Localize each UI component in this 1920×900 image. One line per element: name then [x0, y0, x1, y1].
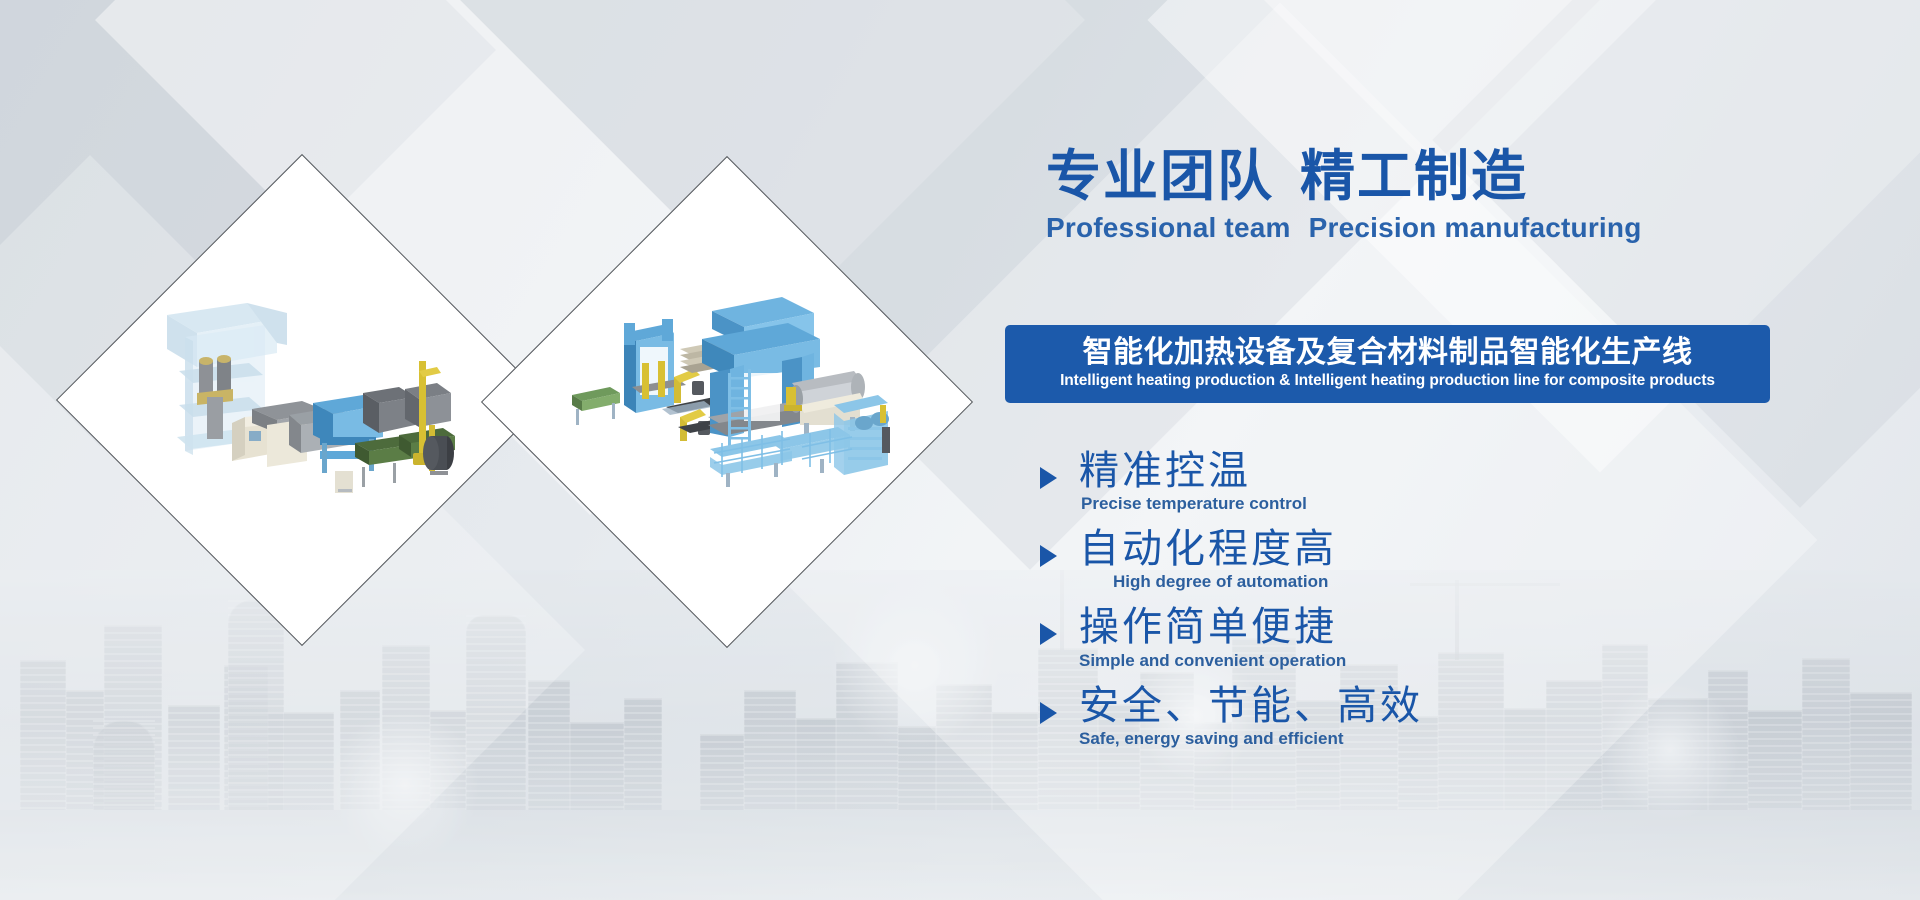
product-title-english: Intelligent heating production & Intelli… — [1060, 372, 1715, 390]
hydraulic-press-line-render — [562, 277, 892, 527]
headline-block: 专业团队精工制造 Professional teamPrecision manu… — [1046, 148, 1826, 244]
diamond-1-content — [129, 227, 475, 573]
headline-chinese-right: 精工制造 — [1300, 145, 1528, 207]
feature-texts: 安全、节能、高效 Safe, energy saving and efficie… — [1079, 685, 1423, 749]
product-title-chinese: 智能化加热设备及复合材料制品智能化生产线 — [1083, 336, 1693, 370]
marketing-banner: 专业团队精工制造 Professional teamPrecision manu… — [0, 0, 1920, 900]
feature-item: 精准控温 Precise temperature control — [1040, 450, 1740, 514]
headline-chinese: 专业团队精工制造 — [1046, 148, 1826, 206]
feature-label-english: Precise temperature control — [1081, 494, 1307, 514]
product-title-banner: 智能化加热设备及复合材料制品智能化生产线 Intelligent heating… — [1005, 325, 1770, 403]
feature-texts: 操作简单便捷 Simple and convenient operation — [1079, 606, 1346, 670]
feature-label-english: Simple and convenient operation — [1079, 651, 1346, 671]
diamond-2-content — [554, 229, 900, 575]
triangle-bullet-icon — [1040, 702, 1057, 724]
triangle-bullet-icon — [1040, 467, 1057, 489]
feature-texts: 精准控温 Precise temperature control — [1079, 450, 1307, 514]
feature-label-chinese: 自动化程度高 — [1079, 528, 1337, 571]
headline-chinese-left: 专业团队 — [1046, 145, 1274, 207]
feature-label-english: Safe, energy saving and efficient — [1079, 729, 1423, 749]
feature-label-english: High degree of automation — [1113, 572, 1337, 592]
triangle-bullet-icon — [1040, 545, 1057, 567]
feature-item: 安全、节能、高效 Safe, energy saving and efficie… — [1040, 685, 1740, 749]
feature-label-chinese: 操作简单便捷 — [1079, 606, 1346, 649]
headline-english-right: Precision manufacturing — [1309, 212, 1642, 243]
headline-english-left: Professional team — [1046, 212, 1291, 243]
feature-list: 精准控温 Precise temperature control 自动化程度高 … — [1040, 450, 1740, 763]
feature-texts: 自动化程度高 High degree of automation — [1079, 528, 1337, 592]
feature-label-chinese: 精准控温 — [1079, 450, 1307, 493]
feature-item: 操作简单便捷 Simple and convenient operation — [1040, 606, 1740, 670]
feature-label-chinese: 安全、节能、高效 — [1079, 685, 1423, 728]
headline-english: Professional teamPrecision manufacturing — [1046, 212, 1826, 244]
triangle-bullet-icon — [1040, 623, 1057, 645]
feature-item: 自动化程度高 High degree of automation — [1040, 528, 1740, 592]
composite-production-line-render — [137, 275, 467, 525]
